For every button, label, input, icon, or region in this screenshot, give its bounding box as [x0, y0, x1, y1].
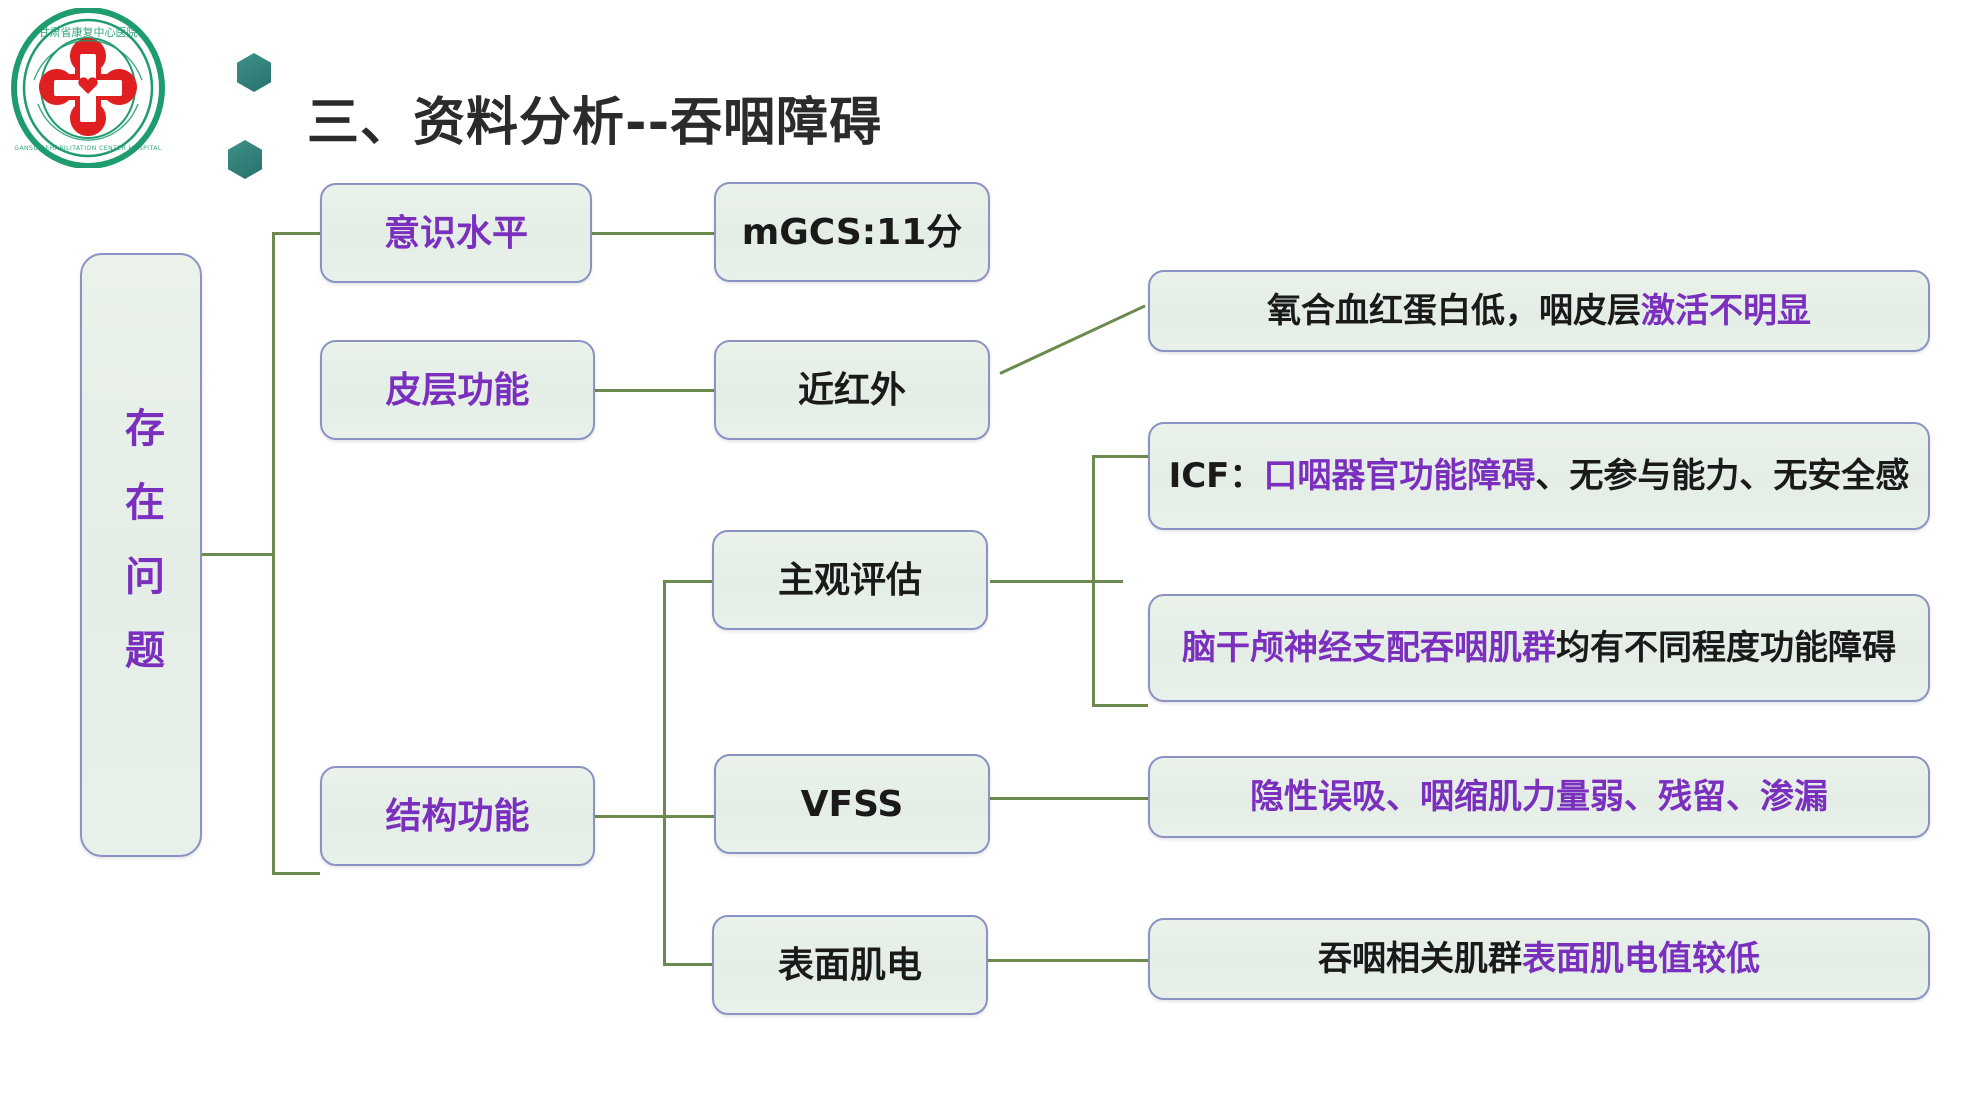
node-vfss-finding[interactable]: 隐性误吸、咽缩肌力量弱、残留、渗漏 — [1148, 756, 1930, 838]
connector-root-spine — [272, 232, 275, 875]
node-label: 表面肌电 — [768, 943, 932, 988]
text-run-1: 激活不明显 — [1641, 291, 1811, 331]
node-root-existing-problems[interactable]: 存在问题 — [80, 253, 202, 857]
connector-root-bracket — [272, 232, 320, 875]
node-consciousness-level[interactable]: 意识水平 — [320, 183, 592, 283]
connector-root-stem — [202, 553, 274, 556]
node-runs: 隐性误吸、咽缩肌力量弱、残留、渗漏 — [1240, 776, 1838, 819]
text-run-0: 氧合血红蛋白低，咽皮层 — [1267, 291, 1641, 331]
text-run-1: 口咽器官功能障碍 — [1263, 456, 1535, 496]
svg-text:GANSU REHABILITATION CENTER HO: GANSU REHABILITATION CENTER HOSPITAL — [14, 145, 162, 152]
page-title: 三、资料分析--吞咽障碍 — [307, 80, 882, 155]
connector-l2-1-to-l3-1 — [595, 389, 716, 392]
connector-subjective-spine — [1092, 455, 1095, 707]
connector-l2-0-to-l3-0 — [592, 232, 716, 235]
node-structural-function[interactable]: 结构功能 — [320, 766, 595, 866]
node-mgcs-score[interactable]: mGCS:11分 — [714, 182, 990, 282]
connector-branch-bottom — [663, 963, 715, 966]
node-vfss[interactable]: VFSS — [714, 754, 990, 854]
node-near-infrared[interactable]: 近红外 — [714, 340, 990, 440]
node-icf-finding[interactable]: ICF：口咽器官功能障碍、无参与能力、无安全感 — [1148, 422, 1930, 530]
node-surface-emg[interactable]: 表面肌电 — [712, 915, 988, 1015]
node-runs: 氧合血红蛋白低，咽皮层激活不明显 — [1257, 290, 1821, 333]
node-label: 结构功能 — [375, 794, 539, 839]
node-label: VFSS — [791, 782, 914, 827]
hospital-logo: 甘肃省康复中心医院 GANSU REHABILITATION CENTER HO… — [8, 8, 168, 168]
hexagon-bullet-icon — [237, 53, 271, 92]
connector-nirs-diagonal — [999, 305, 1145, 375]
svg-text:甘肃省康复中心医院: 甘肃省康复中心医院 — [39, 25, 138, 39]
text-run-0: 脑干颅神经支配吞咽肌群 — [1182, 628, 1556, 668]
text-run-0: ICF： — [1169, 456, 1264, 496]
node-cranial-nerve-finding[interactable]: 脑干颅神经支配吞咽肌群均有不同程度功能障碍 — [1148, 594, 1930, 702]
node-label: 皮层功能 — [375, 368, 539, 413]
connector-vfss-link — [990, 797, 1150, 800]
node-label: 主观评估 — [768, 558, 932, 603]
text-run-1: 表面肌电值较低 — [1522, 939, 1760, 979]
node-label: 意识水平 — [374, 211, 538, 256]
connector-semg-link — [988, 959, 1150, 962]
text-run-0: 隐性误吸、咽缩肌力量弱、残留、渗漏 — [1250, 777, 1828, 817]
node-root-label: 存在问题 — [121, 407, 161, 703]
node-cortical-function[interactable]: 皮层功能 — [320, 340, 595, 440]
text-run-0: 吞咽相关肌群 — [1318, 939, 1522, 979]
node-subjective-assessment[interactable]: 主观评估 — [712, 530, 988, 630]
connector-branch-top — [663, 580, 715, 583]
node-runs: ICF：口咽器官功能障碍、无参与能力、无安全感 — [1159, 455, 1920, 498]
text-run-1: 均有不同程度功能障碍 — [1556, 628, 1896, 668]
connector-l2-2-spine — [663, 580, 666, 966]
node-runs: 吞咽相关肌群表面肌电值较低 — [1308, 938, 1770, 981]
slide-canvas: 甘肃省康复中心医院 GANSU REHABILITATION CENTER HO… — [0, 0, 1980, 1111]
hexagon-bullet-icon — [228, 140, 262, 179]
node-runs: 脑干颅神经支配吞咽肌群均有不同程度功能障碍 — [1172, 627, 1906, 670]
text-run-2: 、无参与能力、无安全感 — [1535, 456, 1909, 496]
connector-subjective-bracket — [1092, 455, 1148, 707]
node-label: mGCS:11分 — [732, 210, 973, 255]
connector-l2-2-stem — [595, 815, 665, 818]
connector-branch-mid — [663, 815, 715, 818]
node-label: 近红外 — [788, 368, 916, 413]
node-nirs-finding[interactable]: 氧合血红蛋白低，咽皮层激活不明显 — [1148, 270, 1930, 352]
node-semg-finding[interactable]: 吞咽相关肌群表面肌电值较低 — [1148, 918, 1930, 1000]
top-strip — [0, 0, 1980, 5]
